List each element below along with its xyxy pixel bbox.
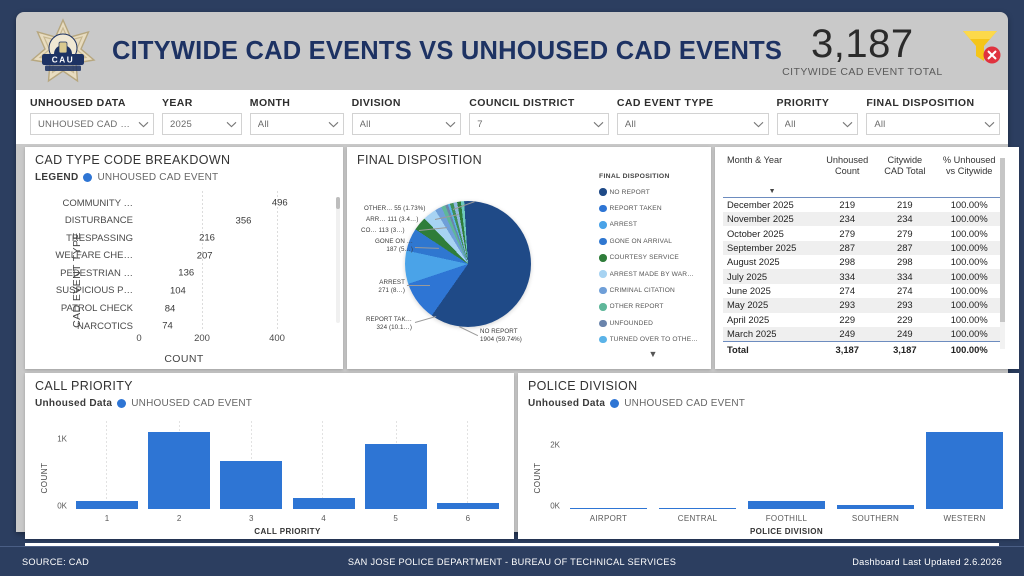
legend-color-dot: [599, 221, 607, 229]
legend-key: Unhoused Data: [35, 398, 112, 409]
legend-series-label: UNHOUSED CAD EVENT: [97, 172, 218, 183]
legend-color-dot: [610, 399, 619, 408]
legend-item-report-taken[interactable]: REPORT TAKEN: [599, 200, 707, 216]
legend-color-dot: [599, 336, 607, 344]
bar-value-label: 207: [197, 250, 213, 261]
table-vertical-scrollbar[interactable]: [1000, 158, 1005, 349]
column-bar[interactable]: [76, 501, 138, 509]
pie-callout-value: 187 (5…): [351, 246, 413, 254]
table-sort-row: ▼: [723, 184, 1005, 197]
police-division-column-chart: COUNT 0K 2K AIRPORT CENTRAL FOOTHILL SOU: [518, 417, 1013, 539]
filter-dropdown-division[interactable]: All: [352, 113, 462, 135]
cell-unhoused: 279: [818, 226, 876, 240]
col-header-text: Month & Year: [727, 155, 782, 165]
cell-citywide: 334: [876, 269, 933, 283]
kpi-value: 3,187: [782, 24, 943, 65]
cell-citywide: 287: [876, 241, 933, 255]
legend-item-unfounded[interactable]: UNFOUNDED: [599, 315, 707, 331]
legend-item-courtesy-service[interactable]: COURTESY SERVICE: [599, 250, 707, 266]
col-header-month-year[interactable]: Month & Year: [723, 154, 818, 184]
cell-unhoused: 298: [818, 255, 876, 269]
x-axis-labels: 1 2 3 4 5 6: [71, 514, 504, 523]
star-badge-svg: CAU: [30, 18, 96, 84]
column-bar[interactable]: [148, 432, 210, 509]
panel-title: FINAL DISPOSITION: [347, 147, 711, 167]
bar-row[interactable]: NARCOTICS 74: [51, 318, 333, 334]
panel-call-priority: CALL PRIORITY Unhoused Data UNHOUSED CAD…: [25, 373, 514, 539]
pie-legend: FINAL DISPOSITION NO REPORT REPORT TAKEN…: [595, 173, 707, 365]
chevron-down-icon: [226, 121, 237, 128]
legend-item-arrest[interactable]: ARREST: [599, 217, 707, 233]
cell-unhoused: 293: [818, 298, 876, 312]
filter-unhoused-data: UNHOUSED DATA UNHOUSED CAD EV…: [30, 97, 154, 135]
legend-color-dot: [117, 399, 126, 408]
cell-total-citywide: 3,187: [876, 342, 933, 358]
cell-month: March 2025: [723, 327, 818, 342]
bar-value-label: 496: [272, 198, 288, 209]
pie-callout-report-taken: REPORT TAK… 324 (10.1…): [350, 316, 412, 332]
cell-month: October 2025: [723, 226, 818, 240]
cell-pct: 100.00%: [933, 298, 1005, 312]
x-tick: 400: [269, 333, 285, 344]
filter-final-disposition: FINAL DISPOSITION All: [866, 97, 1000, 135]
pie-callout-text: NO REPORT: [480, 328, 522, 336]
column-bar[interactable]: [437, 503, 499, 509]
filter-dropdown-council-district[interactable]: 7: [469, 113, 609, 135]
y-axis-ticks: 0K 1K: [45, 421, 69, 509]
legend-key: Unhoused Data: [528, 398, 605, 409]
chart-legend: Unhoused Data UNHOUSED CAD EVENT: [518, 393, 1019, 409]
legend-label: CRIMINAL CITATION: [610, 287, 675, 294]
column-slot[interactable]: [831, 421, 920, 509]
legend-color-dot: [599, 254, 607, 262]
filter-label: YEAR: [162, 97, 242, 109]
y-tick: 1K: [57, 434, 67, 443]
filter-value: 2025: [170, 119, 192, 130]
cell-citywide: 219: [876, 197, 933, 212]
dashboard-frame: CAU CITYWIDE CAD EVENTS VS UNHOUSED CAD …: [0, 0, 1024, 576]
pie-callout-value: 1904 (59.74%): [480, 336, 522, 344]
legend-label: OTHER REPORT: [610, 303, 664, 310]
chevron-down-icon: [753, 121, 764, 128]
legend-label: GONE ON ARRIVAL: [610, 238, 673, 245]
pie-callout-text: ARR… 111 (3.4…): [366, 216, 419, 223]
x-tick: FOOTHILL: [742, 514, 831, 523]
panel-title: CALL PRIORITY: [25, 373, 514, 393]
filter-label: PRIORITY: [777, 97, 859, 109]
x-axis-ticks: 0 200 400: [139, 333, 333, 347]
panel-month-year-table: Month & Year Unhoused Count Citywide CAD…: [715, 147, 1019, 369]
bar-value-label: 136: [178, 268, 194, 279]
filter-label: UNHOUSED DATA: [30, 97, 154, 109]
chevron-down-icon: [138, 121, 149, 128]
filter-value: All: [258, 119, 269, 130]
legend-show-more-icon[interactable]: ▼: [599, 349, 707, 359]
bar-category-label: DISTURBANCE: [51, 215, 139, 226]
column-slot[interactable]: [215, 421, 287, 509]
column-slot[interactable]: [564, 421, 653, 509]
filter-label: CAD EVENT TYPE: [617, 97, 769, 109]
sort-spacer: [818, 184, 876, 197]
filter-value: All: [625, 119, 636, 130]
table-header-row: Month & Year Unhoused Count Citywide CAD…: [723, 154, 1005, 184]
cell-month: April 2025: [723, 313, 818, 327]
x-tick: 0: [136, 333, 141, 344]
col-header-text: Unhoused: [826, 155, 868, 165]
y-tick: 0K: [550, 502, 560, 511]
table-row[interactable]: November 2025 234 234 100.00%: [723, 212, 1005, 226]
dashboard-footer: SOURCE: CAD SAN JOSE POLICE DEPARTMENT -…: [0, 546, 1024, 576]
cell-total-label: Total: [723, 342, 818, 358]
col-header-text2: Count: [835, 166, 860, 176]
cau-logo: CAU: [22, 14, 104, 88]
filter-label: COUNCIL DISTRICT: [469, 97, 609, 109]
legend-label: NO REPORT: [610, 189, 650, 196]
cell-unhoused: 229: [818, 313, 876, 327]
legend-item-gone-on-arrival[interactable]: GONE ON ARRIVAL: [599, 233, 707, 249]
x-axis-title: COUNT: [25, 353, 343, 365]
bar-category-label: PEDESTRIAN …: [51, 268, 139, 279]
chevron-down-icon: [445, 121, 456, 128]
panel-final-disposition: FINAL DISPOSITION OTHER… 55 (1.73%) ARR……: [347, 147, 711, 369]
cell-pct: 100.00%: [933, 269, 1005, 283]
table-body: December 2025 219 219 100.00% November 2…: [723, 197, 1005, 357]
chart-vertical-scrollbar[interactable]: [336, 197, 340, 323]
legend-label: ARREST MADE BY WAR…: [610, 271, 694, 278]
kpi-label: CITYWIDE CAD EVENT TOTAL: [782, 66, 943, 78]
call-priority-column-chart: COUNT 0K 1K: [25, 417, 508, 539]
filter-label: FINAL DISPOSITION: [866, 97, 1000, 109]
chevron-down-icon: [984, 121, 995, 128]
bar-category-label: SUSPICIOUS P…: [51, 285, 139, 296]
cell-unhoused: 249: [818, 327, 876, 342]
y-axis-ticks: 0K 2K: [538, 421, 562, 509]
bar-value-label: 216: [199, 233, 215, 244]
chevron-down-icon: [842, 121, 853, 128]
filter-dropdown-month[interactable]: All: [250, 113, 344, 135]
x-tick: 5: [360, 514, 432, 523]
bar-value-label: 74: [162, 321, 173, 332]
bar-category-label: COMMUNITY …: [51, 198, 139, 209]
pie-callout-other: OTHER… 55 (1.73%): [364, 205, 426, 213]
bar-category-label: WELFARE CHE…: [51, 250, 139, 261]
legend-item-turned-over-to-other[interactable]: TURNED OVER TO OTHE…: [599, 332, 707, 348]
filter-year: YEAR 2025: [162, 97, 242, 135]
col-header-text: % Unhoused: [943, 155, 996, 165]
bar-category-label: TRESPASSING: [51, 233, 139, 244]
table-row[interactable]: April 2025 229 229 100.00%: [723, 313, 1005, 327]
bar-row[interactable]: DISTURBANCE 356: [51, 213, 333, 229]
funnel-filter-icon: [957, 25, 1003, 69]
legend-color-dot: [599, 205, 607, 213]
bar-row[interactable]: TRESPASSING 216: [51, 230, 333, 246]
month-year-table: Month & Year Unhoused Count Citywide CAD…: [723, 154, 1005, 365]
table-total-row: Total 3,187 3,187 100.00%: [723, 342, 1005, 358]
filter-dropdown-unhoused-data[interactable]: UNHOUSED CAD EV…: [30, 113, 154, 135]
table-row[interactable]: May 2025 293 293 100.00%: [723, 298, 1005, 312]
cell-citywide: 298: [876, 255, 933, 269]
sort-spacer: [876, 184, 933, 197]
x-axis-title: CALL PRIORITY: [71, 527, 504, 536]
cell-citywide: 234: [876, 212, 933, 226]
column-slot[interactable]: [432, 421, 504, 509]
data-table: Month & Year Unhoused Count Citywide CAD…: [723, 154, 1005, 357]
cell-total-unhoused: 3,187: [818, 342, 876, 358]
chart-legend: LEGEND UNHOUSED CAD EVENT: [25, 167, 343, 183]
cell-citywide: 279: [876, 226, 933, 240]
legend-title: FINAL DISPOSITION: [599, 173, 707, 180]
column-slot[interactable]: [920, 421, 1009, 509]
filter-dropdown-priority[interactable]: All: [777, 113, 859, 135]
table-row[interactable]: March 2025 249 249 100.00%: [723, 327, 1005, 342]
panel-cad-type-breakdown: CAD TYPE CODE BREAKDOWN LEGEND UNHOUSED …: [25, 147, 343, 369]
filter-label: DIVISION: [352, 97, 462, 109]
column-slot[interactable]: [653, 421, 742, 509]
filter-value: All: [874, 119, 885, 130]
sort-spacer: [933, 184, 1005, 197]
filter-value: UNHOUSED CAD EV…: [38, 119, 134, 130]
cell-pct: 100.00%: [933, 255, 1005, 269]
x-tick: 4: [288, 514, 360, 523]
cell-citywide: 293: [876, 298, 933, 312]
bar-row[interactable]: COMMUNITY … 496: [51, 195, 333, 211]
panel-police-division: POLICE DIVISION Unhoused Data UNHOUSED C…: [518, 373, 1019, 539]
filter-value: All: [360, 119, 371, 130]
y-tick: 2K: [550, 440, 560, 449]
column-bar[interactable]: [293, 498, 355, 509]
column-slot[interactable]: [360, 421, 432, 509]
pie-callout-courtesy: CO… 113 (3…): [361, 227, 405, 235]
pie-callout-gone-on-arrival: GONE ON … 187 (5…): [351, 238, 413, 254]
legend-item-no-report[interactable]: NO REPORT: [599, 184, 707, 200]
filter-label: MONTH: [250, 97, 344, 109]
pie-callout-value: 271 (8…): [350, 287, 405, 295]
table-row[interactable]: July 2025 334 334 100.00%: [723, 269, 1005, 283]
legend-label: ARREST: [610, 221, 638, 228]
filter-dropdown-cad-event-type[interactable]: All: [617, 113, 769, 135]
column-slot[interactable]: [143, 421, 215, 509]
pie-callout-text: ARREST: [350, 279, 405, 287]
x-tick: 2: [143, 514, 215, 523]
col-header-text2: CAD Total: [884, 166, 925, 176]
pie-chart-area: OTHER… 55 (1.73%) ARR… 111 (3.4…) CO… 11…: [347, 173, 591, 369]
bar-row[interactable]: WELFARE CHE… 207: [51, 248, 333, 264]
bar-row[interactable]: PEDESTRIAN … 136: [51, 265, 333, 281]
legend-color-dot: [599, 270, 607, 278]
cell-pct: 100.00%: [933, 284, 1005, 298]
cell-month: November 2025: [723, 212, 818, 226]
police-star-badge-icon: CAU: [30, 18, 96, 84]
legend-label: TURNED OVER TO OTHE…: [610, 336, 698, 343]
legend-color-dot: [599, 238, 607, 246]
filter-bar: UNHOUSED DATA UNHOUSED CAD EV… YEAR 2025…: [16, 90, 1008, 144]
filter-value: All: [785, 119, 796, 130]
chevron-down-icon: [328, 121, 339, 128]
column-bar[interactable]: [570, 508, 647, 509]
filter-dropdown-final-disposition[interactable]: All: [866, 113, 1000, 135]
dashboard-canvas: CAU CITYWIDE CAD EVENTS VS UNHOUSED CAD …: [16, 12, 1008, 532]
cad-type-bar-chart: CAD EVENT TYPE COMMUNITY … 496 DISTURBAN…: [25, 191, 343, 369]
filter-cad-event-type: CAD EVENT TYPE All: [617, 97, 769, 135]
pie-callout-arrest-warrant: ARR… 111 (3.4…): [366, 216, 419, 224]
table-row[interactable]: December 2025 219 219 100.00%: [723, 197, 1005, 212]
y-tick: 0K: [57, 502, 67, 511]
pie-callout-text: CO… 113 (3…): [361, 227, 405, 234]
dashboard-header: CAU CITYWIDE CAD EVENTS VS UNHOUSED CAD …: [16, 12, 1008, 90]
cell-pct: 100.00%: [933, 241, 1005, 255]
x-tick: 6: [432, 514, 504, 523]
legend-color-dot: [599, 188, 607, 196]
legend-item-arrest-made-by-warrant[interactable]: ARREST MADE BY WAR…: [599, 266, 707, 282]
table-row[interactable]: September 2025 287 287 100.00%: [723, 241, 1005, 255]
legend-series-label: UNHOUSED CAD EVENT: [131, 398, 252, 409]
x-tick: 3: [215, 514, 287, 523]
panel-title: CAD TYPE CODE BREAKDOWN: [25, 147, 343, 167]
legend-color-dot: [83, 173, 92, 182]
cell-citywide: 249: [876, 327, 933, 342]
column-bar[interactable]: [220, 461, 282, 509]
cell-citywide: 229: [876, 313, 933, 327]
footer-source: SOURCE: CAD: [22, 557, 89, 567]
bar-rows: COMMUNITY … 496 DISTURBANCE 356 TRESPASS…: [51, 195, 333, 329]
legend-key: LEGEND: [35, 172, 78, 183]
cell-month: May 2025: [723, 298, 818, 312]
cell-pct: 100.00%: [933, 212, 1005, 226]
column-bar[interactable]: [748, 501, 825, 509]
scrollbar-thumb[interactable]: [336, 197, 340, 209]
cell-unhoused: 287: [818, 241, 876, 255]
column-plot-area: [71, 421, 504, 509]
legend-color-dot: [599, 303, 607, 311]
column-slot[interactable]: [71, 421, 143, 509]
x-tick: CENTRAL: [653, 514, 742, 523]
cell-month: August 2025: [723, 255, 818, 269]
legend-color-dot: [599, 287, 607, 295]
pie-callout-arrest: ARREST 271 (8…): [350, 279, 405, 295]
bar-value-label: 84: [165, 303, 176, 314]
cell-pct: 100.00%: [933, 197, 1005, 212]
x-tick: AIRPORT: [564, 514, 653, 523]
sort-descending-icon: ▼: [766, 188, 776, 195]
x-tick: SOUTHERN: [831, 514, 920, 523]
filter-value: 7: [477, 119, 482, 130]
cell-unhoused: 274: [818, 284, 876, 298]
table-row[interactable]: June 2025 274 274 100.00%: [723, 284, 1005, 298]
pie-callout-no-report: NO REPORT 1904 (59.74%): [480, 328, 522, 344]
pie-callout-text: REPORT TAK…: [350, 316, 412, 324]
cell-total-pct: 100.00%: [933, 342, 1005, 358]
legend-item-criminal-citation[interactable]: CRIMINAL CITATION: [599, 282, 707, 298]
svg-text:CAU: CAU: [52, 55, 75, 64]
legend-series-label: UNHOUSED CAD EVENT: [624, 398, 745, 409]
clear-filters-button[interactable]: [957, 25, 1011, 77]
cell-unhoused: 234: [818, 212, 876, 226]
cell-month: December 2025: [723, 197, 818, 212]
legend-label: REPORT TAKEN: [610, 205, 662, 212]
table-row[interactable]: October 2025 279 279 100.00%: [723, 226, 1005, 240]
filter-dropdown-year[interactable]: 2025: [162, 113, 242, 135]
cell-pct: 100.00%: [933, 327, 1005, 342]
x-tick: 1: [71, 514, 143, 523]
chart-legend: Unhoused Data UNHOUSED CAD EVENT: [25, 393, 514, 409]
column-slot[interactable]: [742, 421, 831, 509]
footer-last-updated: Dashboard Last Updated 2.6.2026: [852, 557, 1002, 567]
legend-label: UNFOUNDED: [610, 320, 653, 327]
col-header-text2: vs Citywide: [946, 166, 992, 176]
cell-unhoused: 334: [818, 269, 876, 283]
filter-priority: PRIORITY All: [777, 97, 859, 135]
x-axis-labels: AIRPORT CENTRAL FOOTHILL SOUTHERN WESTER…: [564, 514, 1009, 523]
table-head: Month & Year Unhoused Count Citywide CAD…: [723, 154, 1005, 197]
cell-pct: 100.00%: [933, 226, 1005, 240]
bar-row[interactable]: SUSPICIOUS P… 104: [51, 283, 333, 299]
scrollbar-thumb[interactable]: [1000, 158, 1005, 322]
bar-row[interactable]: PATROL CHECK 84: [51, 301, 333, 317]
cell-month: September 2025: [723, 241, 818, 255]
bar-category-label: NARCOTICS: [51, 321, 139, 332]
table-row[interactable]: August 2025 298 298 100.00%: [723, 255, 1005, 269]
bar-category-label: PATROL CHECK: [51, 303, 139, 314]
pie-callout-text: OTHER… 55 (1.73%): [364, 205, 426, 212]
pie-callout-value: 324 (10.1…): [350, 324, 412, 332]
col-header-citywide-cad-total[interactable]: Citywide CAD Total: [876, 154, 933, 184]
legend-color-dot: [599, 320, 607, 328]
bar-value-label: 356: [236, 215, 252, 226]
cell-citywide: 274: [876, 284, 933, 298]
col-header-pct-unhoused[interactable]: % Unhoused vs Citywide: [933, 154, 1005, 184]
column-slot[interactable]: [288, 421, 360, 509]
cell-month: July 2025: [723, 269, 818, 283]
page-title: CITYWIDE CAD EVENTS VS UNHOUSED CAD EVEN…: [112, 37, 782, 66]
kpi-citywide-total: 3,187 CITYWIDE CAD EVENT TOTAL: [782, 24, 943, 78]
filter-month: MONTH All: [250, 97, 344, 135]
column-bar[interactable]: [926, 432, 1003, 509]
filter-council-district: COUNCIL DISTRICT 7: [469, 97, 609, 135]
legend-label: COURTESY SERVICE: [610, 254, 679, 261]
col-header-unhoused-count[interactable]: Unhoused Count: [818, 154, 876, 184]
x-tick: 200: [194, 333, 210, 344]
cell-pct: 100.00%: [933, 313, 1005, 327]
chevron-down-icon: [593, 121, 604, 128]
col-header-text: Citywide: [887, 155, 922, 165]
sort-indicator-cell[interactable]: ▼: [723, 184, 818, 197]
panel-title: POLICE DIVISION: [518, 373, 1019, 393]
x-tick: WESTERN: [920, 514, 1009, 523]
cell-unhoused: 219: [818, 197, 876, 212]
pie-callout-text: GONE ON …: [351, 238, 413, 246]
legend-item-other-report[interactable]: OTHER REPORT: [599, 299, 707, 315]
column-bar[interactable]: [659, 508, 736, 509]
filter-division: DIVISION All: [352, 97, 462, 135]
cell-month: June 2025: [723, 284, 818, 298]
column-bar[interactable]: [365, 444, 427, 509]
x-axis-title: POLICE DIVISION: [564, 527, 1009, 536]
column-bar[interactable]: [837, 505, 914, 509]
bar-value-label: 104: [170, 285, 186, 296]
final-disposition-pie[interactable]: [405, 201, 531, 327]
column-plot-area: [564, 421, 1009, 509]
